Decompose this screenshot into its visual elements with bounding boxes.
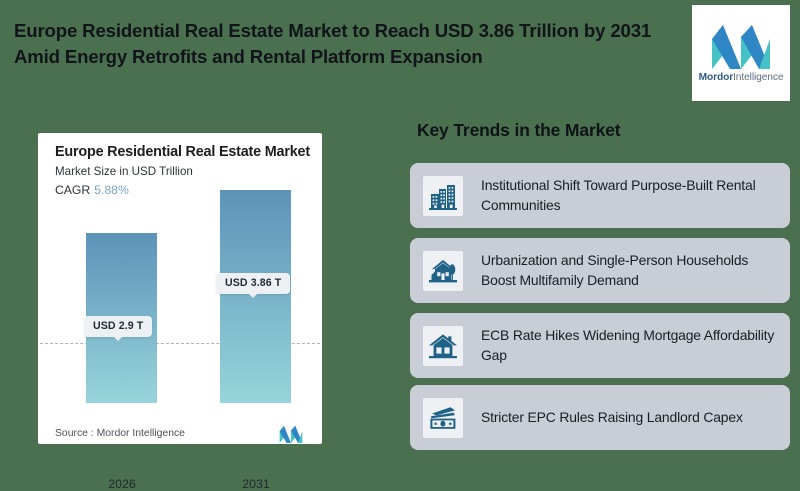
office-buildings-icon xyxy=(428,181,458,211)
chart-source: Source : Mordor Intelligence xyxy=(55,428,185,439)
trend-icon-frame xyxy=(423,176,463,216)
bar-value-label-2031: USD 3.86 T xyxy=(216,273,290,294)
trend-label: Urbanization and Single-Person Household… xyxy=(481,251,780,289)
x-axis-label-2031: 2031 xyxy=(211,477,301,491)
chart-card: Europe Residential Real Estate Market Ma… xyxy=(38,133,322,444)
trend-card[interactable]: Stricter EPC Rules Raising Landlord Cape… xyxy=(410,385,790,450)
trend-card[interactable]: ECB Rate Hikes Widening Mortgage Afforda… xyxy=(410,313,790,378)
bar-chart-plot: USD 2.9 T USD 3.86 T 2026 2031 xyxy=(38,203,322,403)
bar-value-label-2026: USD 2.9 T xyxy=(84,316,152,337)
x-axis-label-2026: 2026 xyxy=(77,477,167,491)
cagr-value: 5.88% xyxy=(94,183,129,197)
trend-label: ECB Rate Hikes Widening Mortgage Afforda… xyxy=(481,326,780,364)
trend-label: Stricter EPC Rules Raising Landlord Cape… xyxy=(481,408,743,427)
house-with-tree-icon xyxy=(428,256,458,286)
header: Europe Residential Real Estate Market to… xyxy=(0,0,800,108)
brand-name-bold: Mordor xyxy=(699,72,733,83)
house-icon xyxy=(428,331,458,361)
chart-title: Europe Residential Real Estate Market xyxy=(55,144,310,160)
banknotes-icon xyxy=(428,403,458,433)
brand-name-light: Intelligence xyxy=(733,72,783,83)
chart-subtitle: Market Size in USD Trillion xyxy=(55,165,193,178)
trend-icon-frame xyxy=(423,326,463,366)
mordor-intelligence-logo-icon xyxy=(710,23,772,69)
chart-cagr: CAGR5.88% xyxy=(55,183,129,197)
trends-heading: Key Trends in the Market xyxy=(417,120,620,141)
trend-icon-frame xyxy=(423,398,463,438)
trend-card[interactable]: Institutional Shift Toward Purpose-Built… xyxy=(410,163,790,228)
page-title: Europe Residential Real Estate Market to… xyxy=(14,18,674,71)
trend-card[interactable]: Urbanization and Single-Person Household… xyxy=(410,238,790,303)
cagr-label: CAGR xyxy=(55,183,90,197)
trend-icon-frame xyxy=(423,251,463,291)
brand-wordmark: MordorIntelligence xyxy=(699,72,784,83)
brand-logo: MordorIntelligence xyxy=(692,5,790,101)
source-logo-icon xyxy=(278,425,304,443)
trend-label: Institutional Shift Toward Purpose-Built… xyxy=(481,176,780,214)
